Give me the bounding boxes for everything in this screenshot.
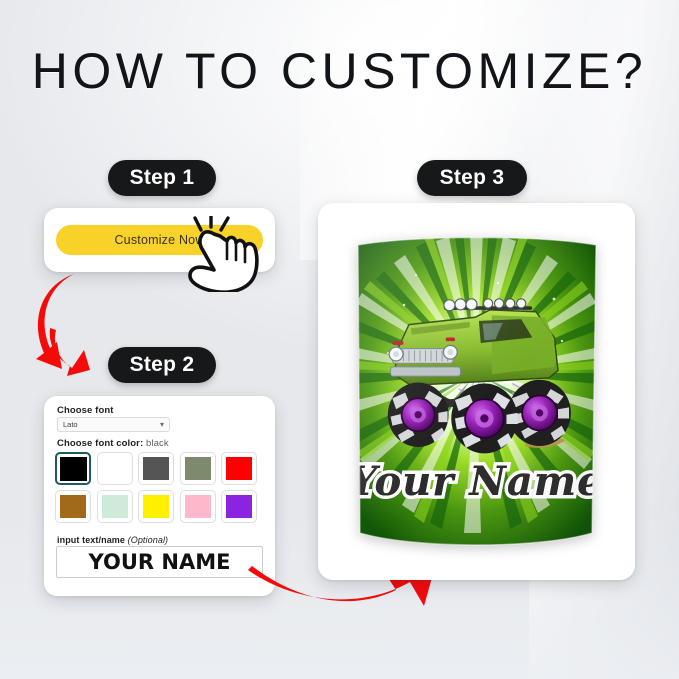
- input-name-optional-text: (Optional): [128, 535, 169, 545]
- choose-font-color-value: black: [146, 438, 169, 449]
- page-title: HOW TO CUSTOMIZE?: [0, 46, 679, 96]
- pointing-hand-icon: [170, 216, 270, 292]
- product-preview-blanket: Your Name Your Name: [348, 233, 605, 550]
- input-name-label: input text/name (Optional): [57, 535, 168, 545]
- swatch-yellow[interactable]: [138, 490, 174, 523]
- swatch-pink[interactable]: [180, 490, 216, 523]
- poster-canvas: HOW TO CUSTOMIZE? Step 1 Customize Now S…: [0, 0, 679, 679]
- font-color-swatches: [55, 452, 263, 528]
- step-3-card: Your Name Your Name: [318, 203, 635, 580]
- swatch-purple[interactable]: [221, 490, 257, 523]
- font-select-value: Lato: [63, 420, 78, 429]
- chevron-down-icon: ▾: [160, 421, 164, 429]
- input-name-label-text: input text/name: [57, 535, 125, 545]
- choose-font-label: Choose font: [57, 405, 114, 416]
- swatch-dark-gray[interactable]: [138, 452, 174, 485]
- step-2-badge: Step 2: [108, 347, 216, 383]
- step-2-card: Choose font Lato ▾ Choose font color: bl…: [44, 396, 275, 596]
- swatch-row-1: [55, 452, 263, 485]
- swatch-mint[interactable]: [97, 490, 133, 523]
- step-1-badge: Step 1: [108, 160, 216, 196]
- choose-font-color-label: Choose font color: black: [57, 438, 169, 449]
- name-input-field[interactable]: YOUR NAME: [56, 546, 263, 578]
- font-select[interactable]: Lato ▾: [57, 417, 170, 432]
- swatch-white[interactable]: [97, 452, 133, 485]
- swatch-red[interactable]: [221, 452, 257, 485]
- choose-font-color-text: Choose font color:: [57, 438, 143, 449]
- swatch-black[interactable]: [55, 452, 91, 485]
- name-input-value: YOUR NAME: [89, 550, 231, 574]
- step-3-badge: Step 3: [417, 160, 527, 196]
- swatch-brown[interactable]: [55, 490, 91, 523]
- swatch-row-2: [55, 490, 263, 523]
- swatch-sage-green[interactable]: [180, 452, 216, 485]
